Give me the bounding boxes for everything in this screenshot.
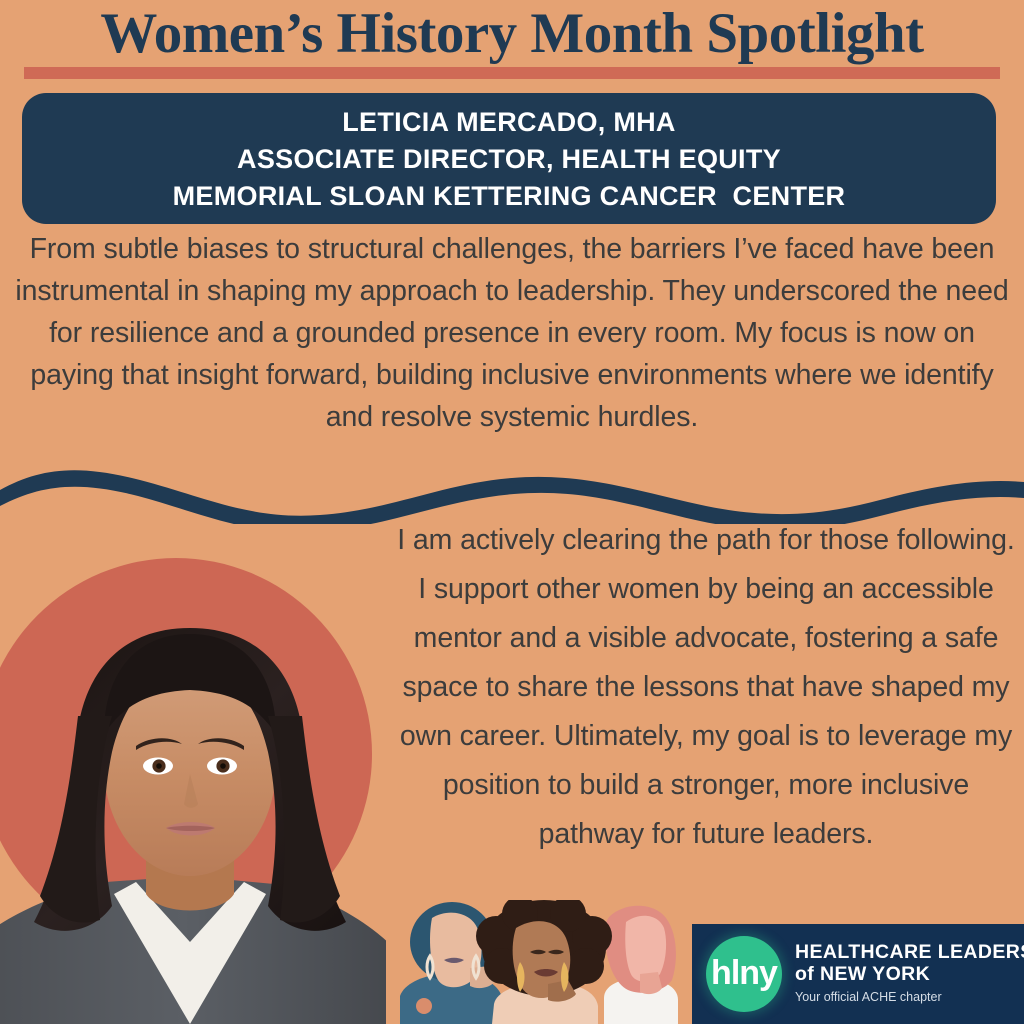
three-women-illustration	[396, 900, 684, 1024]
hlny-logo-mark-icon: hlny	[706, 936, 782, 1012]
speaker-name-card: LETICIA MERCADO, MHA ASSOCIATE DIRECTOR,…	[22, 93, 996, 224]
speaker-name: LETICIA MERCADO, MHA	[342, 104, 675, 141]
hlny-logo-line1: HEALTHCARE LEADERS	[795, 941, 1024, 963]
hlny-logo-text: HEALTHCARE LEADERS of NEW YORK Your offi…	[795, 941, 1024, 1007]
page-title: Women’s History Month Spotlight	[0, 2, 1024, 66]
woman-right-figure	[604, 906, 678, 1024]
title-accent-bar	[24, 67, 1000, 79]
hlny-logo-line2: of NEW YORK	[795, 963, 1024, 985]
speaker-role: ASSOCIATE DIRECTOR, HEALTH EQUITY	[237, 141, 781, 178]
wave-divider-icon	[0, 462, 1024, 524]
hlny-logo: hlny HEALTHCARE LEADERS of NEW YORK Your…	[692, 924, 1024, 1024]
poster-canvas: Women’s History Month Spotlight LETICIA …	[0, 0, 1024, 1024]
quote-paragraph-1: From subtle biases to structural challen…	[4, 228, 1020, 438]
hlny-logo-mark-text: hlny	[711, 956, 777, 990]
speaker-organization: MEMORIAL SLOAN KETTERING CANCER CENTER	[173, 178, 846, 215]
hlny-logo-tagline: Your official ACHE chapter	[795, 988, 1024, 1007]
quote-paragraph-2: I am actively clearing the path for thos…	[392, 516, 1020, 859]
woman-afro-center-figure	[476, 900, 612, 1024]
speaker-portrait	[0, 576, 386, 1024]
